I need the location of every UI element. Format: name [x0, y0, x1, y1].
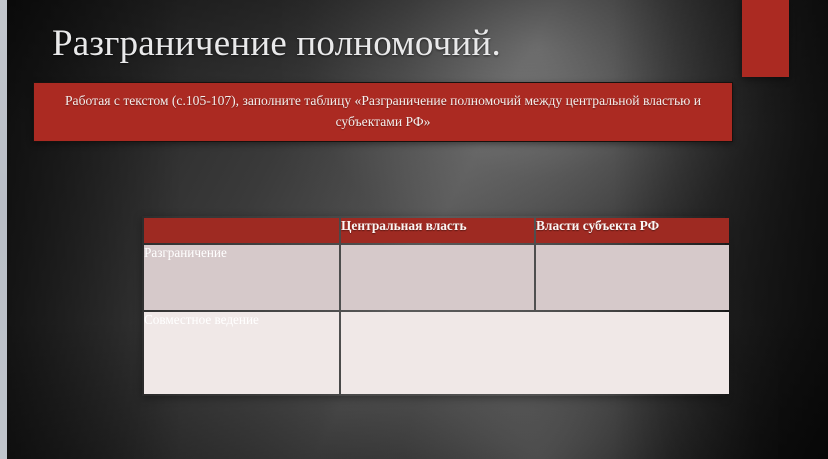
table-header-row: Центральная власть Власти субъекта РФ	[144, 218, 729, 243]
powers-table: Центральная власть Власти субъекта РФ Ра…	[142, 216, 731, 396]
table-header-cell-central-power: Центральная власть	[341, 218, 534, 243]
table-row: Разграничение	[144, 245, 729, 310]
powers-table-container: Центральная власть Власти субъекта РФ Ра…	[142, 216, 725, 396]
table-header-cell-empty	[144, 218, 339, 243]
table-cell-merged-row2[interactable]	[341, 312, 729, 394]
slide-title: Разграничение полномочий.	[52, 23, 501, 64]
table-cell-subject-row1[interactable]	[536, 245, 729, 310]
left-edge-strip	[0, 0, 7, 459]
red-corner-accent-block	[742, 0, 789, 77]
table-row-label-sovmestnoe-vedenie: Совместное ведение	[144, 312, 339, 394]
table-header-cell-subject-power: Власти субъекта РФ	[536, 218, 729, 243]
instruction-banner: Работая с текстом (с.105-107), заполните…	[33, 82, 733, 142]
presentation-slide: Разграничение полномочий. Работая с текс…	[0, 0, 828, 459]
table-cell-central-row1[interactable]	[341, 245, 534, 310]
instruction-banner-text: Работая с текстом (с.105-107), заполните…	[34, 91, 732, 132]
table-row-label-razgranichenie: Разграничение	[144, 245, 339, 310]
table-row: Совместное ведение	[144, 312, 729, 394]
